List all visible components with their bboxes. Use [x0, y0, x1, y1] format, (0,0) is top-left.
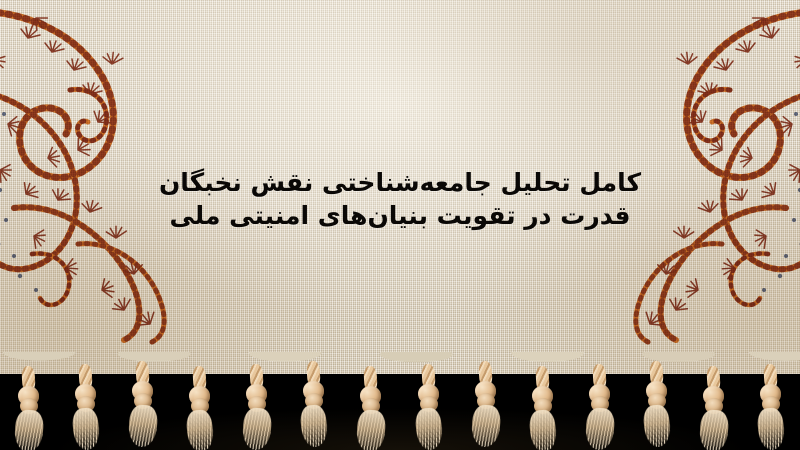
title-card: کامل تحلیل جامعه‌شناختی نقش نخبگان قدرت … [0, 0, 800, 450]
title-block: کامل تحلیل جامعه‌شناختی نقش نخبگان قدرت … [0, 166, 800, 232]
title-line-2: قدرت در تقویت بنیان‌های امنیتی ملی [0, 199, 800, 232]
dark-backdrop [0, 366, 800, 450]
title-line-1: کامل تحلیل جامعه‌شناختی نقش نخبگان [0, 166, 800, 199]
